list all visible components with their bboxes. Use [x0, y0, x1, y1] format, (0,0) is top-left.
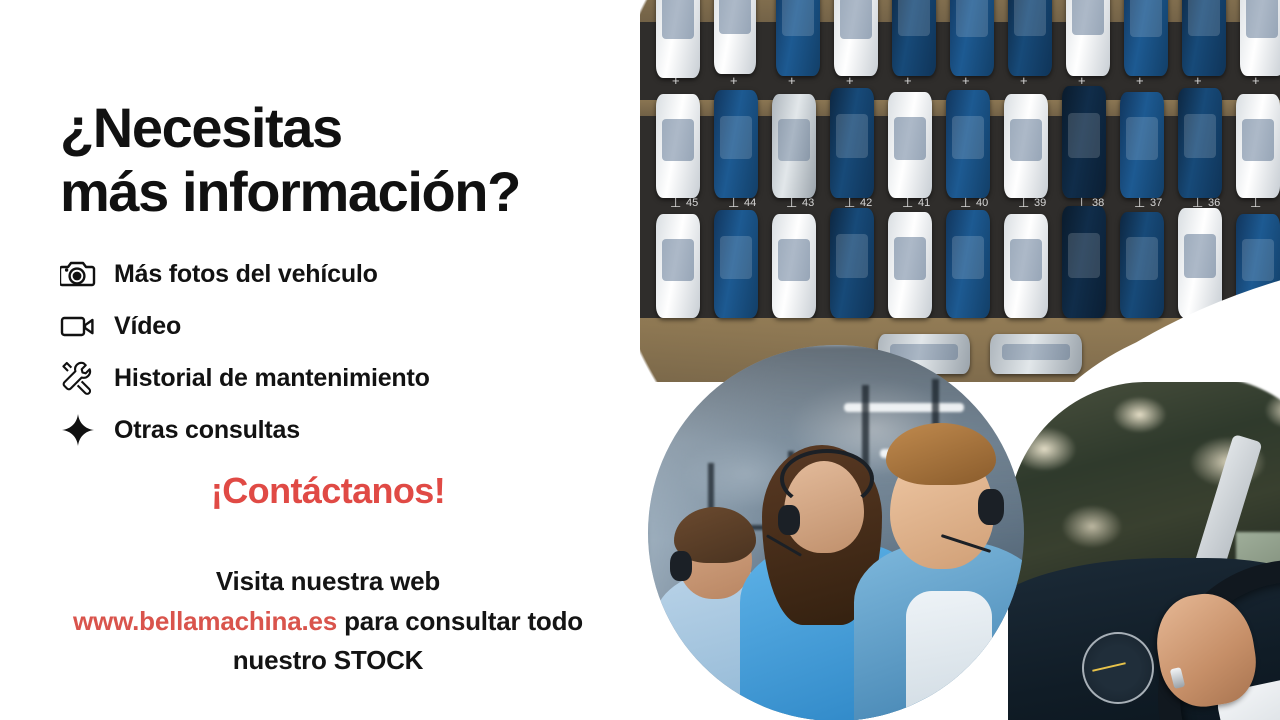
parked-car [888, 92, 932, 198]
parked-car [772, 94, 816, 198]
list-item-label: Historial de mantenimiento [114, 364, 430, 393]
list-item-label: Otras consultas [114, 416, 300, 445]
parked-car [1178, 88, 1222, 198]
list-item-label: Más fotos del vehículo [114, 260, 378, 289]
tools-icon [56, 358, 100, 398]
parked-car [776, 0, 820, 76]
headset-earcup [778, 505, 800, 535]
cta-contact-text: ¡Contáctanos! [0, 470, 656, 512]
parked-car [1178, 208, 1222, 318]
list-item-other: Otras consultas [56, 404, 656, 456]
call-center-agent-front [854, 391, 1024, 720]
video-camera-icon [56, 306, 100, 346]
list-item-video: Vídeo [56, 300, 656, 352]
parked-car [1120, 212, 1164, 318]
list-item-maintenance: Historial de mantenimiento [56, 352, 656, 404]
footer-text: Visita nuestra web www.bellamachina.es p… [0, 562, 656, 681]
parked-car [892, 0, 936, 76]
parked-car [1008, 0, 1052, 76]
benefit-list: Más fotos del vehículo Vídeo [56, 248, 656, 456]
list-item-label: Vídeo [114, 312, 181, 341]
list-item-photos: Más fotos del vehículo [56, 248, 656, 300]
parked-car [946, 90, 990, 198]
parked-car [714, 210, 758, 318]
camera-icon [56, 254, 100, 294]
parked-car [1182, 0, 1226, 76]
parked-car [1240, 0, 1280, 76]
content-column: ¿Necesitas más información? Más fotos de… [0, 0, 680, 720]
parked-car [1120, 92, 1164, 198]
parked-car [1066, 0, 1110, 76]
parked-car [772, 214, 816, 318]
parked-car [950, 0, 994, 76]
page-title: ¿Necesitas más información? [60, 96, 680, 226]
parked-car [1236, 94, 1280, 198]
parked-car [830, 88, 874, 198]
agent-hair [886, 423, 996, 485]
sparkle-icon [56, 410, 100, 450]
agent-tshirt [906, 591, 992, 720]
promo-banner: + + + + + + + + + + + ⊥ ⊥ ⊥ [0, 0, 1280, 720]
footer-line-2-rest: para consultar todo [337, 606, 583, 636]
parked-car [1124, 0, 1168, 76]
footer-line-3: nuestro STOCK [233, 645, 424, 675]
website-url[interactable]: www.bellamachina.es [73, 606, 337, 636]
parked-car [946, 210, 990, 318]
call-center-photo [648, 345, 1024, 720]
parked-car [1004, 94, 1048, 198]
driving-interior-photo [1008, 382, 1280, 720]
parked-car [1062, 206, 1106, 318]
parked-car [1004, 214, 1048, 318]
headset-earcup [978, 489, 1004, 525]
footer-line-1: Visita nuestra web [216, 566, 440, 596]
parked-car [834, 0, 878, 76]
parked-car [714, 90, 758, 198]
speedometer [1082, 632, 1154, 704]
parked-car [1062, 86, 1106, 198]
parked-car [830, 208, 874, 318]
parked-car [714, 0, 756, 74]
parked-car [888, 212, 932, 318]
